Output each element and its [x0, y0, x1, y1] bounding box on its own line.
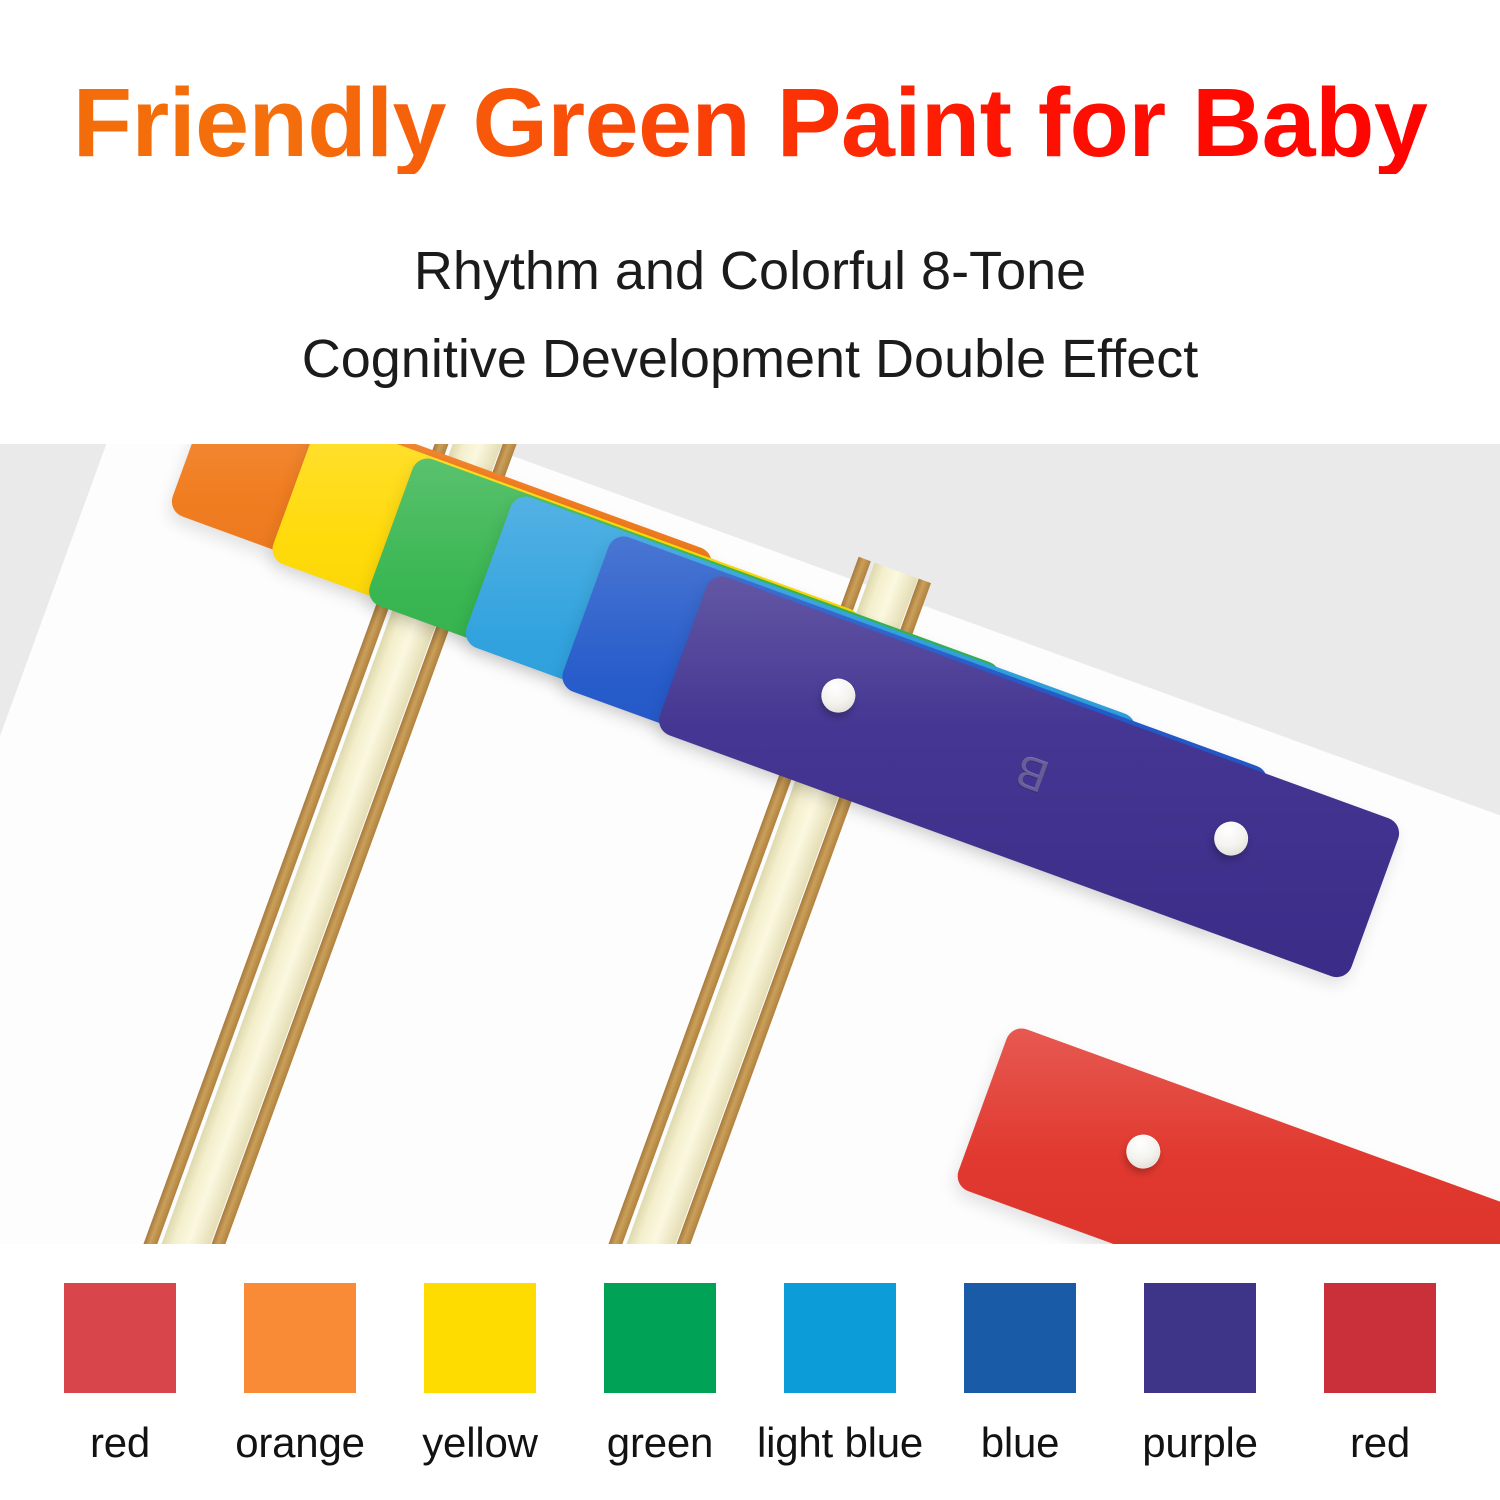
swatch-item: green [580, 1283, 740, 1464]
swatch-label: yellow [422, 1422, 538, 1464]
subtitle-line-1: Rhythm and Colorful 8-Tone [0, 244, 1500, 298]
swatch-item: orange [220, 1283, 380, 1464]
swatch-label: orange [235, 1422, 365, 1464]
swatch-label: blue [981, 1422, 1060, 1464]
page-title: Friendly Green Paint for Baby [0, 72, 1500, 174]
swatch-item: red [1300, 1283, 1460, 1464]
swatch-chip-green [604, 1283, 716, 1393]
swatch-chip-red-1 [64, 1283, 176, 1393]
bar-peg [817, 674, 861, 718]
swatch-item: yellow [400, 1283, 560, 1464]
swatch-item: light blue [760, 1283, 920, 1464]
bar-note-letter: B [1008, 744, 1055, 805]
swatch-chip-red-2 [1324, 1283, 1436, 1393]
product-photo: D E F G A [0, 444, 1500, 1244]
swatch-chip-purple [1144, 1283, 1256, 1393]
swatch-row: red orange yellow green light blue blue [40, 1283, 1460, 1453]
swatch-item: purple [1120, 1283, 1280, 1464]
header-section: Friendly Green Paint for Baby Rhythm and… [0, 0, 1500, 444]
swatch-label: red [1350, 1422, 1410, 1464]
swatch-chip-light-blue [784, 1283, 896, 1393]
swatch-label: purple [1142, 1422, 1258, 1464]
swatch-label: light blue [757, 1422, 923, 1464]
swatch-label: red [90, 1422, 150, 1464]
swatch-chip-blue [964, 1283, 1076, 1393]
bar-peg [1209, 817, 1253, 861]
product-marketing-image: Friendly Green Paint for Baby Rhythm and… [0, 0, 1500, 1500]
swatch-item: red [40, 1283, 200, 1464]
swatch-label: green [607, 1422, 713, 1464]
swatch-chip-yellow [424, 1283, 536, 1393]
color-swatch-strip: red orange yellow green light blue blue [0, 1244, 1500, 1500]
subtitle-line-2: Cognitive Development Double Effect [0, 332, 1500, 386]
bar-peg [1121, 1130, 1165, 1174]
swatch-chip-orange [244, 1283, 356, 1393]
swatch-item: blue [940, 1283, 1100, 1464]
